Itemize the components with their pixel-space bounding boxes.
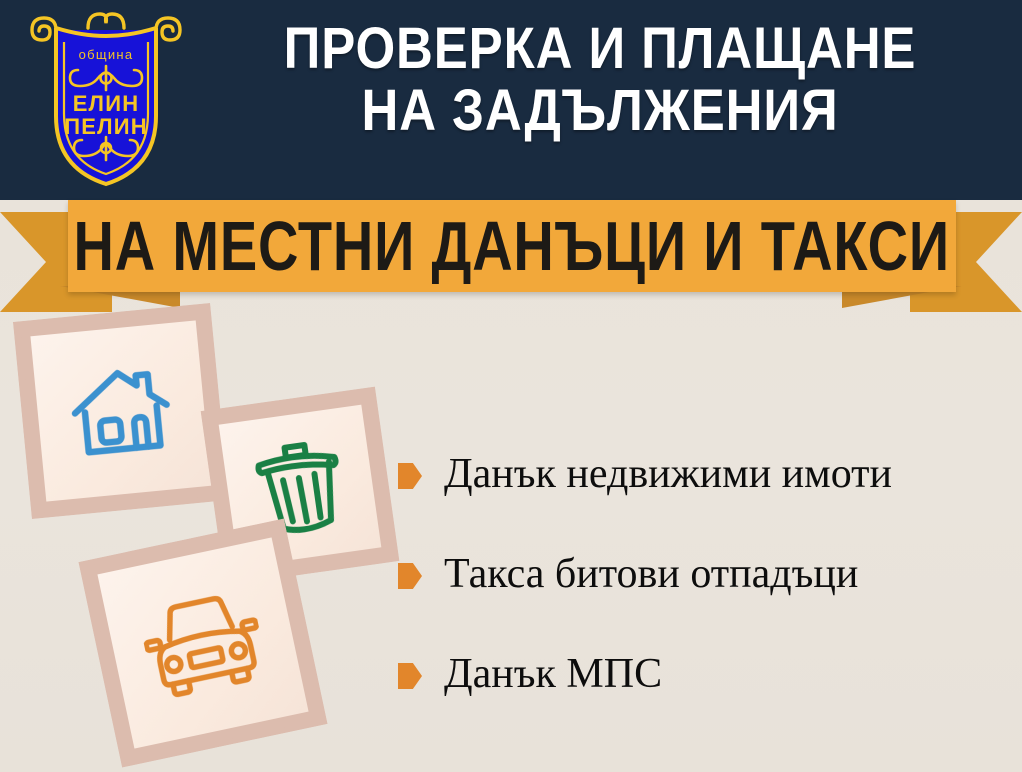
list-item-label: Данък МПС [444, 651, 662, 697]
page-title: ПРОВЕРКА И ПЛАЩАНЕ НА ЗАДЪЛЖЕНИЯ [190, 18, 1010, 142]
header-bar: община ЕЛИН ПЕЛИН ПРОВЕРКА И ПЛАЩАНЕ НА … [0, 0, 1022, 200]
ribbon-banner: НА МЕСТНИ ДАНЪЦИ И ТАКСИ [0, 196, 1022, 308]
house-icon [65, 358, 178, 464]
crest-label-elin: ЕЛИН [73, 91, 140, 116]
title-line-2: НА ЗАДЪЛЖЕНИЯ [239, 80, 961, 142]
title-line-1: ПРОВЕРКА И ПЛАЩАНЕ [239, 18, 961, 80]
stamp-paper [97, 537, 308, 748]
poster-root: община ЕЛИН ПЕЛИН ПРОВЕРКА И ПЛАЩАНЕ НА … [0, 0, 1022, 772]
bullet-arrow-icon [398, 663, 422, 689]
list-item-label: Такса битови отпадъци [444, 551, 858, 597]
ribbon-label: НА МЕСТНИ ДАНЪЦИ И ТАКСИ [74, 211, 950, 281]
list-item[interactable]: Такса битови отпадъци [398, 524, 1014, 624]
bullet-arrow-icon [398, 463, 422, 489]
coat-of-arms: община ЕЛИН ПЕЛИН [26, 8, 186, 188]
list-item[interactable]: Данък недвижими имоти [398, 424, 1014, 524]
tax-type-list: Данък недвижими имоти Такса битови отпад… [398, 424, 1014, 724]
list-item-label: Данък недвижими имоти [444, 451, 892, 497]
ribbon-panel: НА МЕСТНИ ДАНЪЦИ И ТАКСИ [68, 200, 956, 292]
stamp-card-property [13, 303, 229, 519]
stamp-card-vehicle [78, 518, 327, 767]
car-front-icon [136, 584, 269, 702]
crest-label-obshtina: община [79, 47, 134, 62]
stamp-paper [30, 320, 211, 501]
bullet-arrow-icon [398, 563, 422, 589]
crest-label-pelin: ПЕЛИН [64, 114, 148, 139]
list-item[interactable]: Данък МПС [398, 624, 1014, 724]
